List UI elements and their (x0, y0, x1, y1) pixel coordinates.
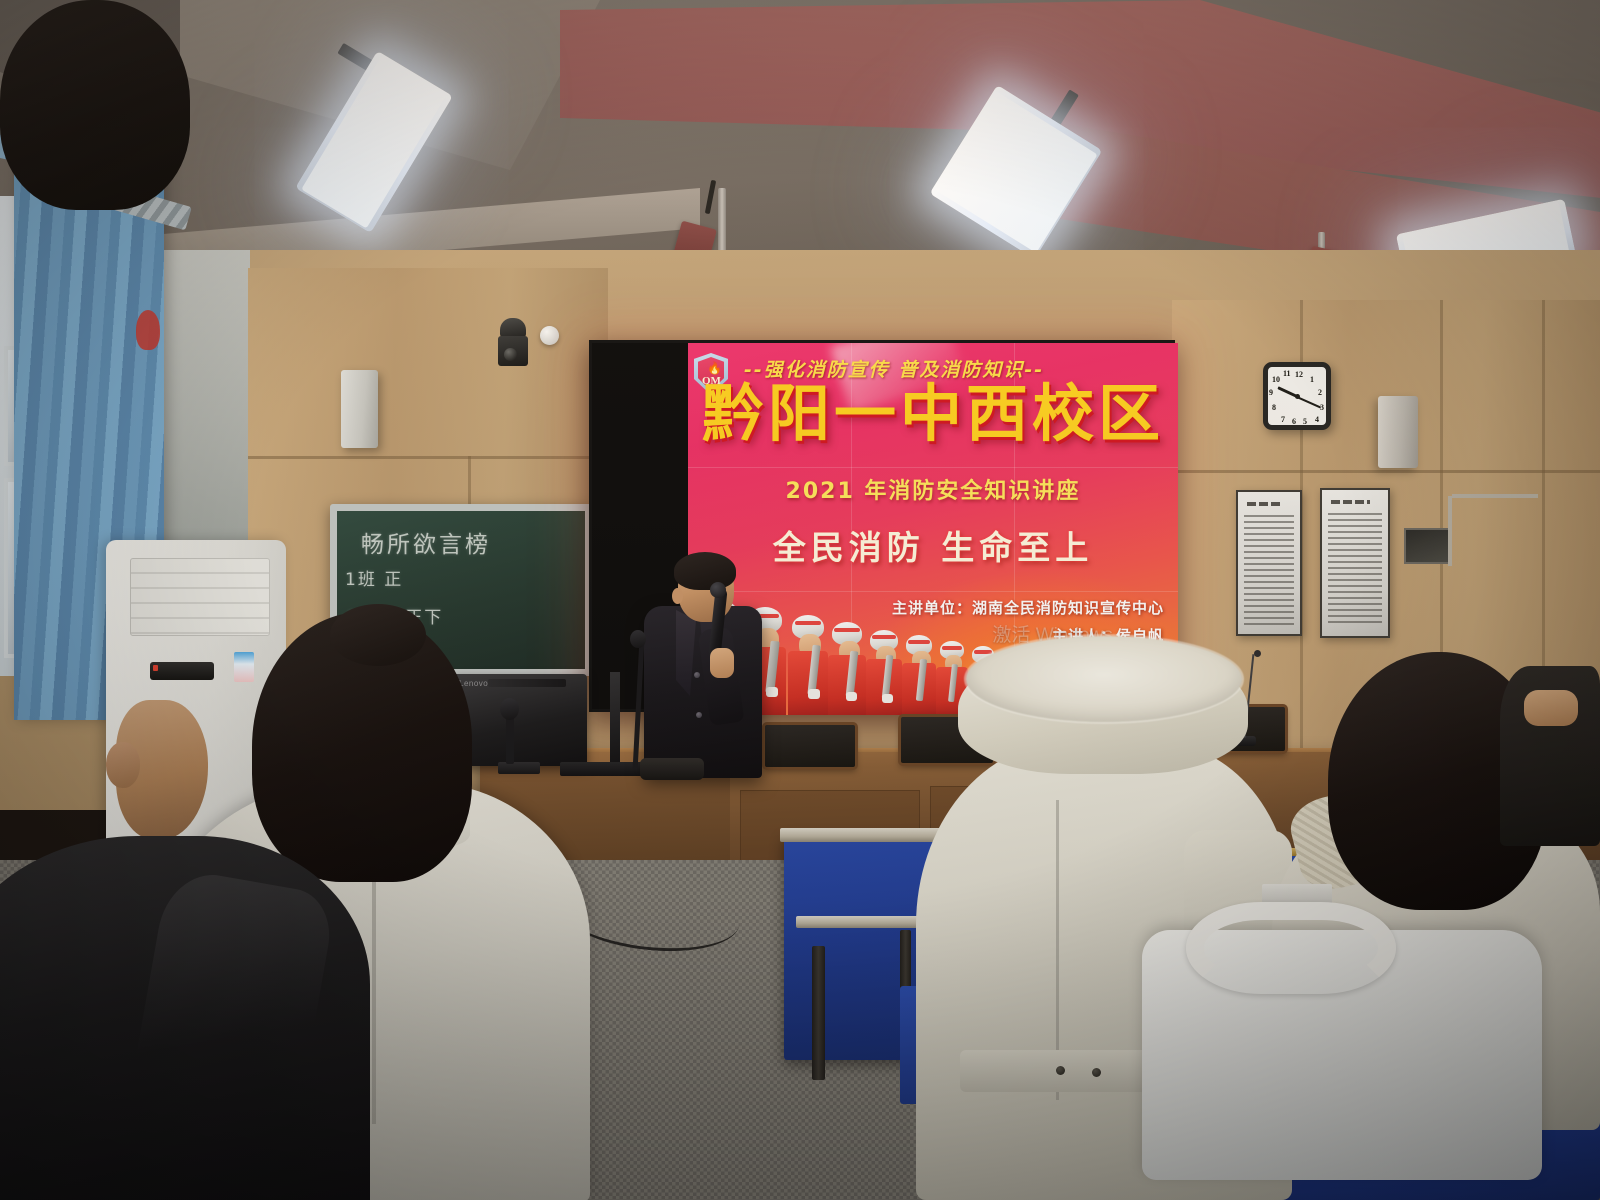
notice-header-line (1247, 502, 1283, 506)
clock-num-4: 4 (1315, 415, 1319, 424)
blackboard-line-1: 1班 正 (345, 565, 403, 590)
wall-seam-1 (248, 456, 608, 459)
bench-leg-1 (812, 946, 825, 1080)
notice-header-line-2 (1331, 500, 1369, 504)
floor-mic-base (640, 758, 704, 780)
wall-conduit-2 (1452, 494, 1538, 498)
audience-3-button-2 (1092, 1068, 1101, 1077)
ac-vent (130, 558, 270, 636)
monitor-bezel-strip (488, 679, 566, 687)
audience-3-fur-trim (966, 636, 1242, 722)
wall-speaker-left (341, 370, 378, 448)
desk-microphone-tip-1 (1254, 650, 1261, 657)
ac-power-led-icon (153, 665, 158, 671)
blackboard-title: 畅所欲言榜 (361, 525, 491, 559)
lenovo-monitor: Lenovo (452, 674, 587, 766)
clock-center-pin (1295, 394, 1300, 399)
microphone-head-icon (710, 582, 726, 598)
classroom-photo: 畅所欲言榜 1班 正 2班 正正下 12 1 2 3 4 5 6 7 8 9 1… (0, 0, 1600, 1200)
clock-num-6: 6 (1292, 417, 1296, 426)
ac-display-panel[interactable] (150, 662, 214, 680)
bag-handle (1186, 902, 1396, 994)
presenter-coat-button-2 (696, 712, 702, 718)
clock-num-11: 11 (1283, 369, 1291, 378)
secondary-monitor-edge (610, 672, 620, 768)
clock-num-5: 5 (1303, 417, 1307, 426)
camera-lens-icon (504, 348, 517, 361)
notice-body-lines (1244, 515, 1295, 626)
wall-clock: 12 1 2 3 4 5 6 7 8 9 10 11 (1263, 362, 1331, 430)
wall-seam-2 (1172, 470, 1600, 473)
smoke-detector-icon (540, 326, 559, 345)
monitor-brand-label: Lenovo (459, 679, 488, 688)
clock-num-10: 10 (1272, 375, 1280, 384)
clock-num-9: 9 (1269, 388, 1273, 397)
clock-num-2: 2 (1318, 388, 1322, 397)
banner-organizer: 主讲单位：湖南全民消防知识宣传中心 (892, 597, 1164, 618)
podium-mic-head-icon (500, 698, 519, 720)
audience-5-hand (1524, 690, 1578, 726)
audience-1-hair (0, 0, 190, 210)
stage-chair-frame-1 (762, 722, 858, 770)
audience-2-hair-bun (330, 604, 426, 666)
clock-num-8: 8 (1272, 403, 1276, 412)
presenter-ear (672, 588, 683, 604)
clock-num-12: 12 (1295, 370, 1303, 379)
banner-slogan: 全民消防 生命至上 (688, 521, 1178, 569)
wall-conduit-1 (1448, 496, 1452, 566)
notice-board-2 (1320, 488, 1390, 638)
audience-member-1 (0, 0, 190, 210)
monitor-stand (498, 762, 540, 774)
flame-icon: 🔥 (707, 362, 722, 374)
clock-minute-hand (1297, 396, 1322, 408)
banner-year-line: 2021 年消防安全知识讲座 (688, 473, 1178, 505)
presenter-coat-button-1 (694, 672, 700, 678)
clock-num-7: 7 (1281, 415, 1285, 424)
clock-num-1: 1 (1310, 375, 1314, 384)
floor-mic-head-icon (630, 630, 646, 648)
ac-energy-label (234, 652, 254, 682)
ptz-camera-head-icon (500, 318, 526, 338)
presenter-hair (674, 552, 736, 590)
audience-1-ear (106, 742, 140, 788)
audience-3-button-1 (1056, 1066, 1065, 1075)
electrical-junction-box (1404, 528, 1450, 564)
wall-speaker-right (1378, 396, 1418, 468)
presenter-hand (710, 648, 734, 678)
notice-board-1 (1236, 490, 1302, 636)
banner-main-title: 黔阳一中西校区 (688, 383, 1178, 445)
wall-decal-red (136, 310, 160, 350)
notice-body-lines-2 (1328, 513, 1382, 627)
